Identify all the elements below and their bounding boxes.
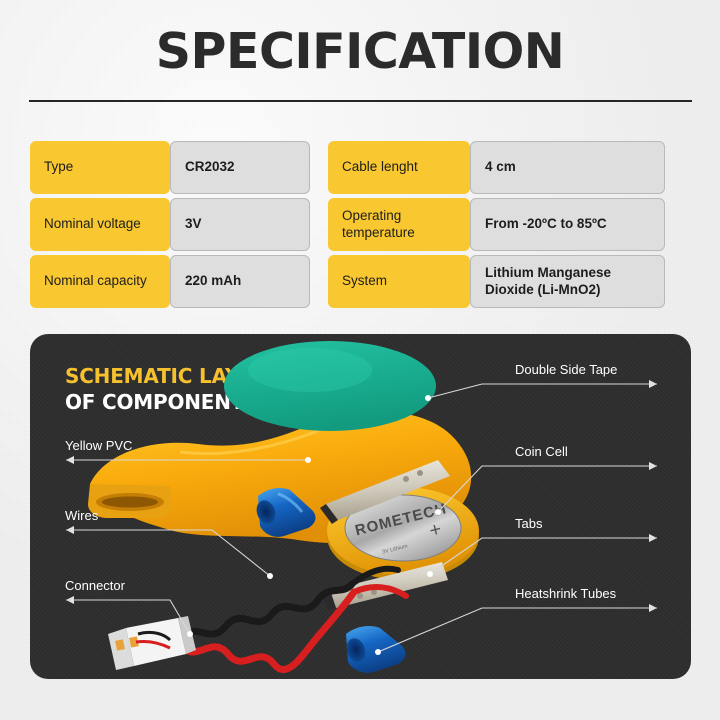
specification-sheet: SPECIFICATION Type CR2032 Cable lenght 4… (0, 0, 720, 720)
pvc-tube-bore (102, 497, 158, 508)
schematic-panel: SCHEMATIC LAYOUT OF COMPONENTS (30, 334, 691, 679)
connector-housing (108, 616, 196, 670)
spec-value-type: CR2032 (170, 141, 310, 194)
spec-value-operating-temperature: From -20ºC to 85ºC (470, 198, 665, 251)
page-title: SPECIFICATION (0, 0, 720, 76)
column-gap (310, 198, 328, 251)
spec-value-cable-lenght: 4 cm (470, 141, 665, 194)
callout-double-side-tape: Double Side Tape (515, 362, 617, 377)
column-gap (310, 141, 328, 194)
spec-value-nominal-voltage: 3V (170, 198, 310, 251)
spec-label-system: System (328, 255, 470, 308)
callout-yellow-pvc: Yellow PVC (65, 438, 132, 453)
specification-table: Type CR2032 Cable lenght 4 cm Nominal vo… (30, 141, 691, 308)
spec-label-cable-lenght: Cable lenght (328, 141, 470, 194)
callout-tabs: Tabs (515, 516, 542, 531)
tape-highlight (248, 348, 372, 392)
spec-label-operating-temperature: Operating temperature (328, 198, 470, 251)
spec-label-nominal-voltage: Nominal voltage (30, 198, 170, 251)
callout-coin-cell: Coin Cell (515, 444, 568, 459)
spec-label-type: Type (30, 141, 170, 194)
heatshrink-tube-lower (343, 626, 405, 673)
spec-label-nominal-capacity: Nominal capacity (30, 255, 170, 308)
exploded-view-illustration: ROMETECH + 3V Lithium (30, 334, 691, 679)
callout-wires: Wires (65, 508, 98, 523)
spec-value-nominal-capacity: 220 mAh (170, 255, 310, 308)
callout-connector: Connector (65, 578, 125, 593)
spec-value-system: Lithium Manganese Dioxide (Li-MnO2) (470, 255, 665, 308)
column-gap (310, 255, 328, 308)
callout-heatshrink-tubes: Heatshrink Tubes (515, 586, 616, 601)
title-divider (29, 100, 692, 102)
